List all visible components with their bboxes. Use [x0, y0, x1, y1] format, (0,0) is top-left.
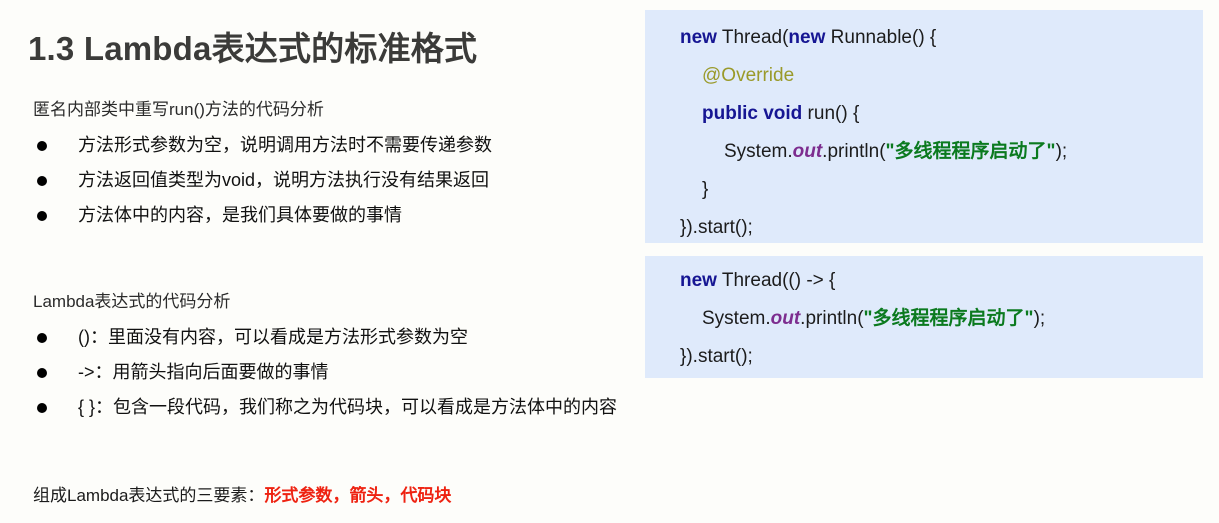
code-block-anonymous-inner-class: new Thread(new Runnable() {@Overridepubl…	[645, 10, 1203, 243]
code-token-kw: new	[680, 270, 717, 291]
list-item: ->：用箭头指向后面要做的事情	[33, 355, 617, 390]
summary-label: 组成Lambda表达式的三要素：	[33, 486, 264, 505]
code-line: public void run() {	[645, 95, 1203, 133]
code-token-kw: new	[788, 27, 825, 48]
summary-term-parameters: 形式参数	[264, 486, 332, 505]
code-token-str: "多线程程序启动了"	[864, 308, 1034, 329]
section-heading-anonymous-class: 匿名内部类中重写run()方法的代码分析	[33, 95, 324, 120]
code-token-field: out	[793, 141, 823, 162]
section-heading-lambda: Lambda表达式的代码分析	[33, 287, 230, 312]
bullet-dot-icon	[37, 333, 47, 343]
summary-term-code-block: 代码块	[400, 486, 451, 505]
slide-left-column: 1.3 Lambda表达式的标准格式 匿名内部类中重写run()方法的代码分析 …	[0, 0, 645, 523]
list-item-label: 方法体中的内容，是我们具体要做的事情	[78, 205, 402, 225]
code-token-kw: public void	[702, 103, 802, 124]
list-item-label: 方法形式参数为空，说明调用方法时不需要传递参数	[78, 135, 492, 155]
code-token-plain: Thread(() -> {	[717, 270, 835, 291]
page-title: 1.3 Lambda表达式的标准格式	[28, 22, 477, 70]
list-item: 方法形式参数为空，说明调用方法时不需要传递参数	[33, 128, 492, 163]
code-token-plain: Thread(	[717, 27, 788, 48]
code-line: new Thread(() -> {	[645, 262, 1203, 300]
summary-term-arrow: 箭头	[349, 486, 383, 505]
code-block-lambda-expression: new Thread(() -> {System.out.println("多线…	[645, 256, 1203, 378]
code-token-plain: System.	[724, 141, 793, 162]
code-token-plain: .println(	[822, 141, 885, 162]
code-token-kw: new	[680, 27, 717, 48]
code-token-anno: @Override	[702, 65, 794, 86]
code-line: @Override	[645, 57, 1203, 95]
bullet-dot-icon	[37, 368, 47, 378]
code-line: System.out.println("多线程程序启动了");	[645, 300, 1203, 338]
code-token-field: out	[771, 308, 801, 329]
code-token-plain: Runnable() {	[825, 27, 936, 48]
list-item-label: 方法返回值类型为void，说明方法执行没有结果返回	[78, 170, 489, 190]
code-token-plain: run() {	[802, 103, 859, 124]
list-item: 方法体中的内容，是我们具体要做的事情	[33, 198, 492, 233]
code-body: new Thread(new Runnable() {@Overridepubl…	[645, 10, 1203, 247]
code-line: }	[645, 171, 1203, 209]
summary-separator: ，	[332, 486, 349, 505]
code-line: }).start();	[645, 338, 1203, 376]
code-token-plain: );	[1056, 141, 1068, 162]
list-item-label: ->：用箭头指向后面要做的事情	[78, 362, 329, 382]
code-line: System.out.println("多线程程序启动了");	[645, 133, 1203, 171]
bullet-dot-icon	[37, 141, 47, 151]
code-token-plain: }).start();	[680, 217, 753, 238]
code-token-plain: );	[1034, 308, 1046, 329]
code-token-plain: }	[702, 179, 708, 200]
code-token-str: "多线程程序启动了"	[886, 141, 1056, 162]
code-line: }).start();	[645, 209, 1203, 247]
list-item: { }：包含一段代码，我们称之为代码块，可以看成是方法体中的内容	[33, 390, 617, 425]
summary-separator: ，	[383, 486, 400, 505]
code-line: new Thread(new Runnable() {	[645, 19, 1203, 57]
bullet-list-anonymous-class: 方法形式参数为空，说明调用方法时不需要传递参数 方法返回值类型为void，说明方…	[33, 128, 492, 233]
bullet-dot-icon	[37, 403, 47, 413]
code-token-plain: System.	[702, 308, 771, 329]
summary-line: 组成Lambda表达式的三要素：形式参数，箭头，代码块	[33, 481, 451, 506]
code-token-plain: .println(	[800, 308, 863, 329]
list-item-label: ()：里面没有内容，可以看成是方法形式参数为空	[78, 327, 468, 347]
bullet-list-lambda: ()：里面没有内容，可以看成是方法形式参数为空 ->：用箭头指向后面要做的事情 …	[33, 320, 617, 425]
bullet-dot-icon	[37, 211, 47, 221]
list-item-label: { }：包含一段代码，我们称之为代码块，可以看成是方法体中的内容	[78, 397, 617, 417]
code-body: new Thread(() -> {System.out.println("多线…	[645, 256, 1203, 376]
bullet-dot-icon	[37, 176, 47, 186]
list-item: ()：里面没有内容，可以看成是方法形式参数为空	[33, 320, 617, 355]
list-item: 方法返回值类型为void，说明方法执行没有结果返回	[33, 163, 492, 198]
code-token-plain: }).start();	[680, 346, 753, 367]
